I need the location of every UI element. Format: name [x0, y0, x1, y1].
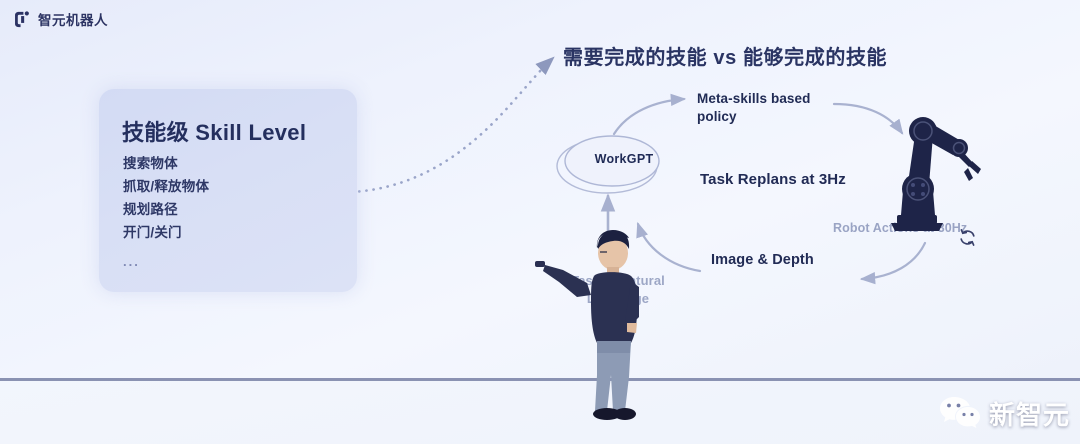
dotted-connector-path [352, 59, 552, 192]
arrow-workgpt-to-meta [614, 99, 684, 134]
list-item: 搜索物体 [123, 155, 209, 172]
skill-card-list: 搜索物体 抓取/释放物体 规划路径 开门/关门 ... [123, 155, 209, 270]
brand-logo: 智元机器人 [12, 9, 108, 29]
robot-arm-icon [877, 105, 997, 235]
list-item: 抓取/释放物体 [123, 178, 209, 195]
skill-card-title: 技能级 Skill Level [122, 115, 306, 147]
diagram-node-workgpt: WorkGPT [575, 152, 673, 166]
skill-level-card: 技能级 Skill Level 搜索物体 抓取/释放物体 规划路径 开门/关门 … [99, 89, 357, 292]
watermark-text: 新智元 [989, 395, 1070, 432]
wechat-icon [938, 394, 982, 432]
diagram-node-image-depth: Image & Depth [711, 251, 814, 270]
list-item: 规划路径 [123, 201, 209, 218]
watermark: 新智元 [938, 394, 1070, 432]
diagram-center-label: Task Replans at 3Hz [700, 171, 846, 188]
presenter-person-icon [533, 225, 673, 421]
diagram-node-meta-skills: Meta-skills based policy [697, 90, 827, 126]
list-item: 开门/关门 [123, 224, 209, 241]
list-item-ellipsis: ... [123, 253, 209, 270]
brand-name: 智元机器人 [38, 9, 108, 29]
arrow-robot-to-image [862, 243, 925, 279]
zhiyuan-robot-logo-icon [12, 10, 31, 29]
slide-headline: 需要完成的技能 vs 能够完成的技能 [563, 41, 887, 70]
screenshot-root: 技能级 Skill Level 搜索物体 抓取/释放物体 规划路径 开门/关门 … [0, 0, 1080, 444]
